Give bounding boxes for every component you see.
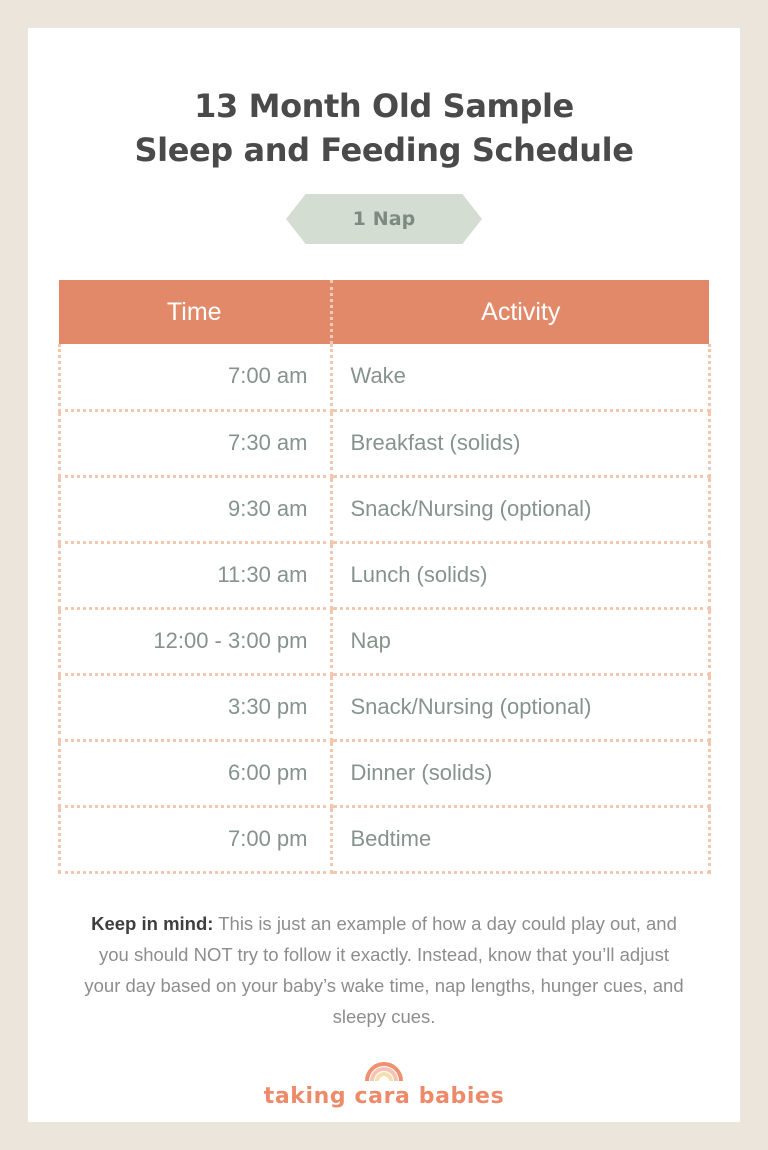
page-title: 13 Month Old Sample Sleep and Feeding Sc… <box>28 28 740 172</box>
cell-time: 7:30 am <box>59 410 331 476</box>
footnote-lead: Keep in mind: <box>91 913 213 934</box>
cell-time: 7:00 am <box>59 344 331 410</box>
title-line-1: 13 Month Old Sample <box>28 84 740 128</box>
nap-badge-label: 1 Nap <box>353 208 416 230</box>
nap-badge-container: 1 Nap <box>28 194 740 244</box>
cell-time: 11:30 am <box>59 542 331 608</box>
table-row: 9:30 amSnack/Nursing (optional) <box>59 476 709 542</box>
table-row: 12:00 - 3:00 pmNap <box>59 608 709 674</box>
column-header-time: Time <box>59 280 331 344</box>
table-row: 7:00 amWake <box>59 344 709 410</box>
brand-logo: taking cara babies <box>28 1058 740 1109</box>
cell-time: 9:30 am <box>59 476 331 542</box>
cell-activity: Breakfast (solids) <box>331 410 709 476</box>
cell-activity: Bedtime <box>331 806 709 872</box>
table-row: 11:30 amLunch (solids) <box>59 542 709 608</box>
cell-time: 12:00 - 3:00 pm <box>59 608 331 674</box>
cell-activity: Snack/Nursing (optional) <box>331 674 709 740</box>
column-header-activity: Activity <box>331 280 709 344</box>
cell-time: 6:00 pm <box>59 740 331 806</box>
schedule-card: 13 Month Old Sample Sleep and Feeding Sc… <box>28 28 740 1122</box>
cell-time: 7:00 pm <box>59 806 331 872</box>
table-header-row: Time Activity <box>59 280 709 344</box>
cell-activity: Dinner (solids) <box>331 740 709 806</box>
cell-activity: Snack/Nursing (optional) <box>331 476 709 542</box>
footnote: Keep in mind: This is just an example of… <box>84 908 684 1032</box>
cell-time: 3:30 pm <box>59 674 331 740</box>
brand-logo-text: taking cara babies <box>28 1084 740 1109</box>
title-line-2: Sleep and Feeding Schedule <box>28 128 740 172</box>
table-header: Time Activity <box>59 280 709 344</box>
cell-activity: Lunch (solids) <box>331 542 709 608</box>
rainbow-icon <box>364 1058 404 1082</box>
table-row: 6:00 pmDinner (solids) <box>59 740 709 806</box>
table-row: 7:30 amBreakfast (solids) <box>59 410 709 476</box>
table-row: 7:00 pmBedtime <box>59 806 709 872</box>
nap-badge: 1 Nap <box>286 194 482 244</box>
table-row: 3:30 pmSnack/Nursing (optional) <box>59 674 709 740</box>
cell-activity: Nap <box>331 608 709 674</box>
table-body: 7:00 amWake7:30 amBreakfast (solids)9:30… <box>59 344 709 872</box>
cell-activity: Wake <box>331 344 709 410</box>
schedule-table: Time Activity 7:00 amWake7:30 amBreakfas… <box>58 280 711 874</box>
